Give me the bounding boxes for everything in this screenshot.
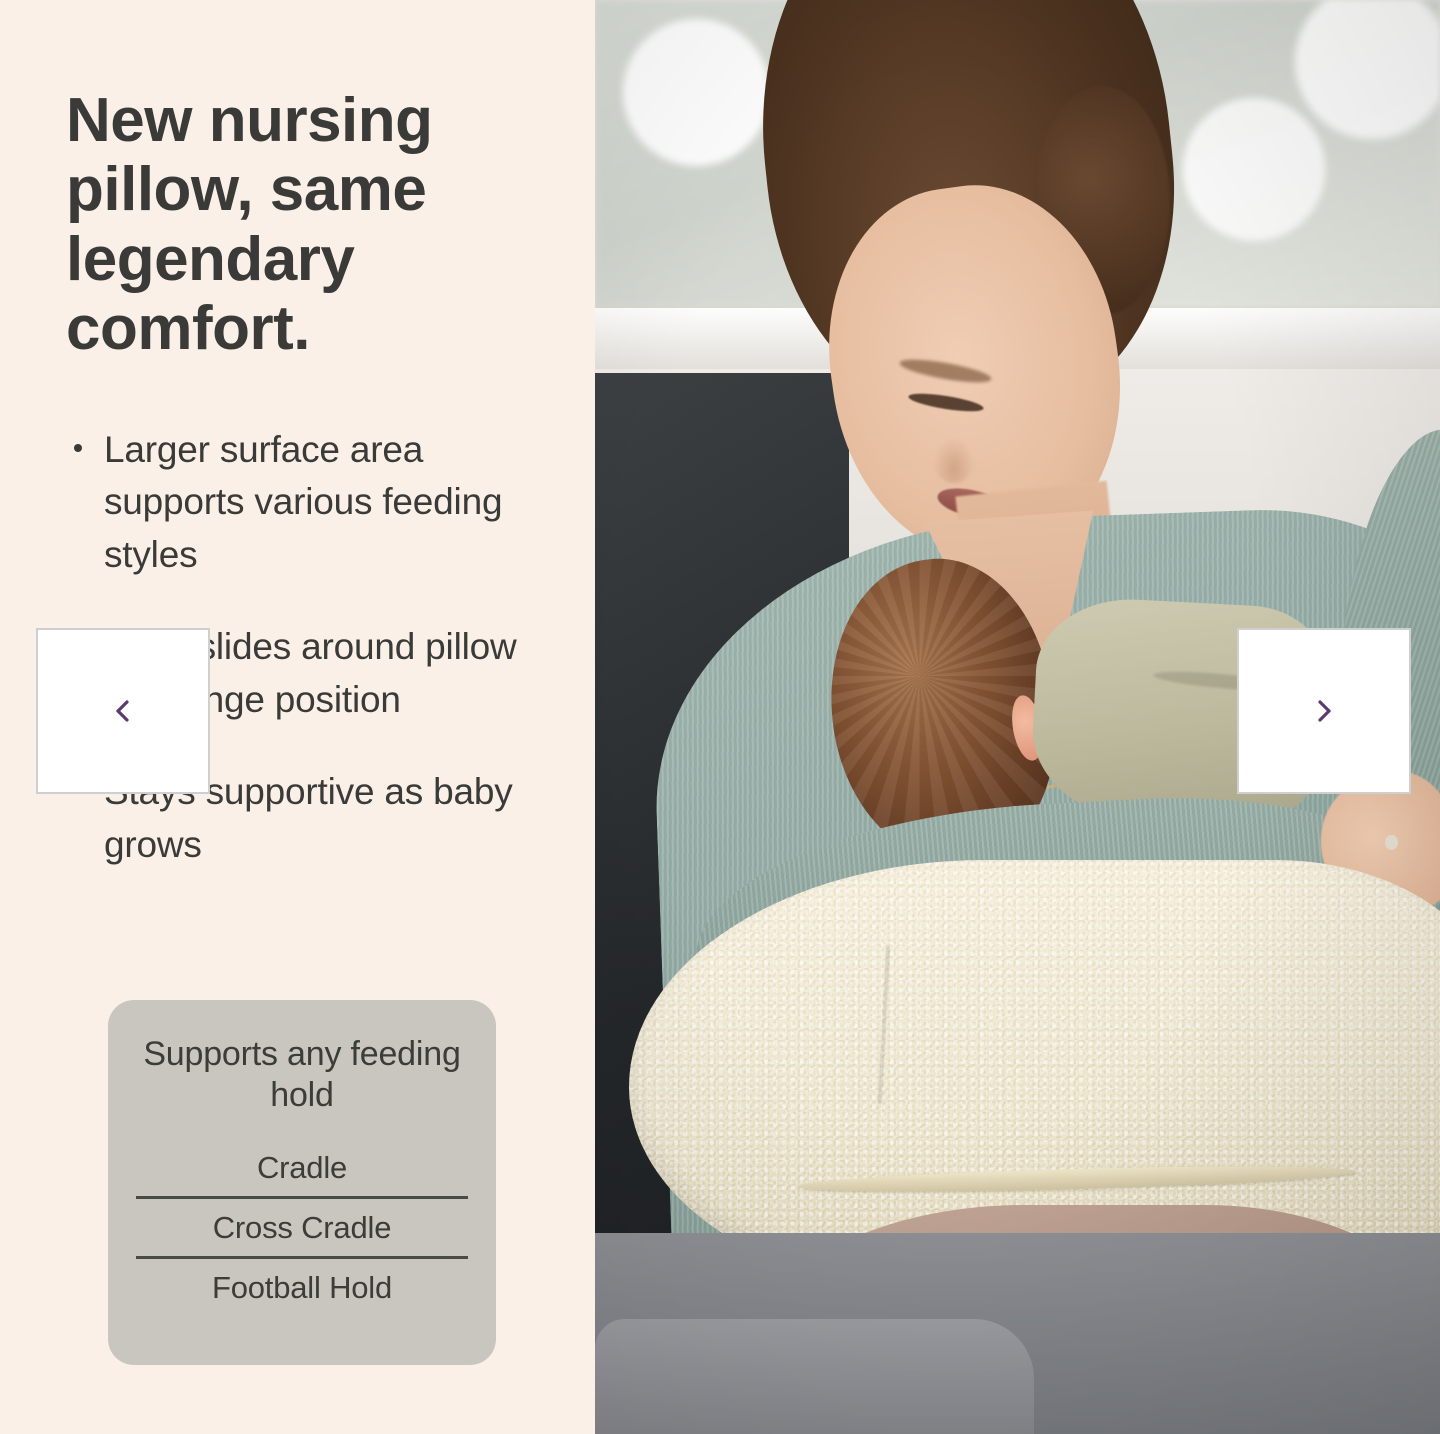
carousel-prev-button[interactable]: [36, 628, 210, 794]
feeding-hold-list: Cradle Cross Cradle Football Hold: [136, 1139, 468, 1316]
chevron-left-icon: [106, 694, 140, 728]
product-carousel-slide: New nursing pillow, same legendary comfo…: [0, 0, 1440, 1434]
list-item: Larger surface area supports various fee…: [66, 424, 536, 582]
feeding-hold-card: Supports any feeding hold Cradle Cross C…: [108, 1000, 496, 1365]
list-item: Cross Cradle: [136, 1196, 468, 1256]
list-item: Cradle: [136, 1139, 468, 1196]
list-item: Football Hold: [136, 1256, 468, 1316]
carousel-next-button[interactable]: [1237, 628, 1411, 794]
chevron-right-icon: [1307, 694, 1341, 728]
feeding-hold-title: Supports any feeding hold: [136, 1034, 468, 1117]
page-title: New nursing pillow, same legendary comfo…: [66, 86, 539, 364]
